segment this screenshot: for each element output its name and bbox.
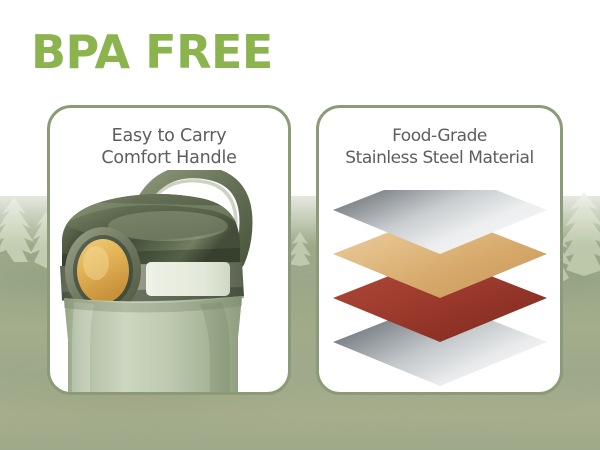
feature-card-title: Easy to Carry Comfort Handle <box>50 126 288 169</box>
page-title: BPA FREE <box>31 28 273 76</box>
feature-card-easy-to-carry[interactable]: Easy to Carry Comfort Handle <box>47 105 291 395</box>
water-bottle-illustration <box>50 170 288 392</box>
bottle-body <box>64 296 242 395</box>
feature-card-food-grade-steel[interactable]: Food-Grade Stainless Steel Material <box>316 105 563 395</box>
infographic-canvas: BPA FREE Easy to Carry Comfort Handle <box>0 0 600 450</box>
material-layers-svg <box>325 190 555 390</box>
water-bottle-svg <box>50 170 291 395</box>
label-patch <box>146 262 230 296</box>
feature-card-title: Food-Grade Stainless Steel Material <box>319 126 560 169</box>
layered-material-illustration <box>319 170 560 392</box>
